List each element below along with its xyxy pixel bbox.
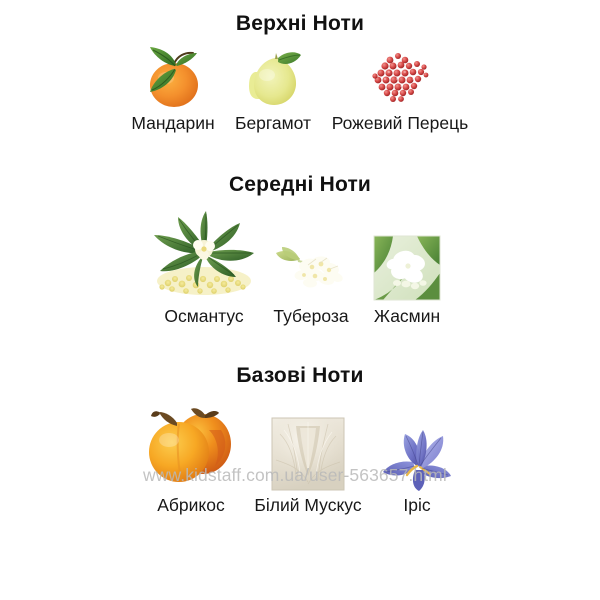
note-item-iris: Іріс [369, 422, 465, 517]
note-item-osmanthus: Османтус [145, 205, 263, 328]
mandarin-image [133, 42, 213, 110]
note-item-white-musk: Білий Мускус [247, 416, 369, 517]
section-title-middle-notes: Середні Ноти [0, 167, 600, 197]
fragrance-notes-page: Верхні Ноти [0, 0, 600, 600]
jasmine-image [371, 233, 443, 303]
note-row-middle: Османтус [0, 205, 600, 328]
note-label-osmanthus: Османтус [164, 306, 243, 328]
section-base-notes: Базові Ноти [0, 358, 600, 517]
section-middle-notes: Середні Ноти [0, 167, 600, 328]
section-title-top-notes: Верхні Ноти [0, 0, 600, 36]
note-label-mandarin: Мандарин [131, 113, 214, 135]
bergamot-image [233, 42, 313, 110]
note-item-mandarin: Мандарин [121, 42, 225, 135]
note-label-pink-pepper: Рожевий Перець [332, 113, 469, 135]
osmanthus-image [150, 205, 258, 303]
note-label-tuberose: Тубероза [273, 306, 348, 328]
iris-image [379, 422, 455, 492]
tuberose-image [268, 233, 354, 303]
note-label-iris: Іріс [403, 495, 430, 517]
note-label-white-musk: Білий Мускус [254, 495, 361, 517]
note-item-apricot: Абрикос [135, 396, 247, 517]
section-top-notes: Верхні Ноти [0, 0, 600, 135]
pink-pepper-image [360, 42, 440, 110]
note-item-bergamot: Бергамот [225, 42, 321, 135]
section-title-base-notes: Базові Ноти [0, 358, 600, 388]
note-item-jasmine: Жасмин [359, 233, 455, 328]
note-row-top: Мандарин [0, 42, 600, 135]
note-item-tuberose: Тубероза [263, 233, 359, 328]
note-label-jasmine: Жасмин [374, 306, 440, 328]
apricot-image [139, 396, 243, 492]
note-label-apricot: Абрикос [157, 495, 225, 517]
note-item-pink-pepper: Рожевий Перець [321, 42, 479, 135]
note-label-bergamot: Бергамот [235, 113, 311, 135]
note-row-base: Абрикос [0, 396, 600, 517]
white-musk-image [270, 416, 346, 492]
